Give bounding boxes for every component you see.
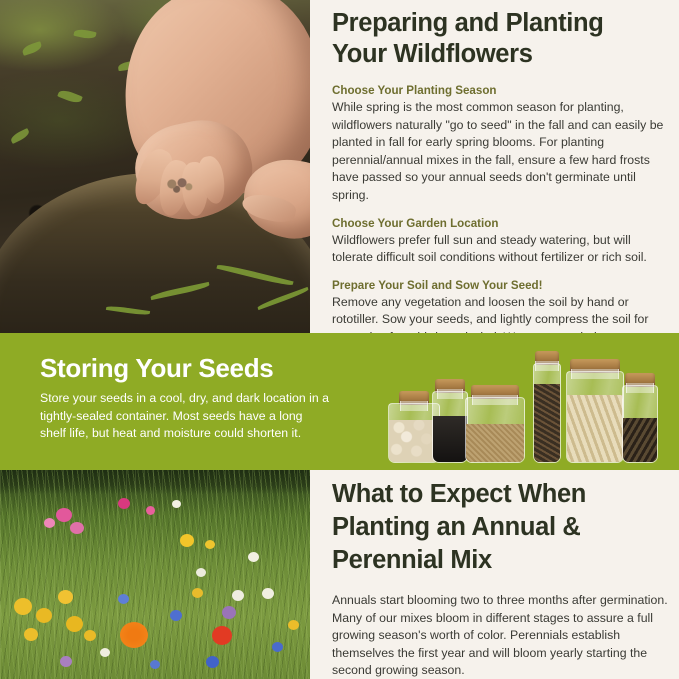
flower-blue-2 xyxy=(170,610,182,621)
page-title-line-2: Your Wildflowers xyxy=(332,40,533,68)
jar-pumpkin-seeds xyxy=(566,359,624,463)
expect-title-line-2: Planting an Annual & xyxy=(332,513,580,541)
flower-pink-4 xyxy=(146,506,155,515)
flower-pink-2 xyxy=(70,522,84,534)
storing-seeds-band: Storing Your Seeds Store your seeds in a… xyxy=(0,333,679,470)
flower-red-poppy xyxy=(212,626,232,645)
jar-contents xyxy=(534,384,560,462)
expect-title-line-3: Perennial Mix xyxy=(332,546,492,574)
flower-yellow-5 xyxy=(58,590,73,604)
spacer xyxy=(332,267,668,278)
jar-contents xyxy=(466,424,524,462)
jar-tan-grain xyxy=(465,385,525,463)
jar-black-seeds xyxy=(432,379,468,463)
flower-yellow-3 xyxy=(14,598,32,615)
flower-yellow-9 xyxy=(192,588,203,598)
page-title: Preparing and Planting Your Wildflowers xyxy=(332,8,668,70)
expect-title: What to Expect When Planting an Annual &… xyxy=(332,478,668,577)
flower-blue-1 xyxy=(118,594,129,604)
flower-white-2 xyxy=(248,552,259,562)
what-to-expect-section: What to Expect When Planting an Annual &… xyxy=(332,478,668,679)
jar-glass xyxy=(465,397,525,463)
jar-tall-dark-seeds xyxy=(533,351,561,463)
flower-white-1 xyxy=(172,500,181,508)
subheading-garden-location: Choose Your Garden Location xyxy=(332,216,668,232)
flower-pink-3 xyxy=(44,518,55,528)
preparing-planting-section: Preparing and Planting Your Wildflowers … xyxy=(332,8,668,347)
body-planting-season: While spring is the most common season f… xyxy=(332,99,668,205)
jar-glass xyxy=(566,371,624,463)
flower-blue-3 xyxy=(206,656,219,668)
flower-yellow-7 xyxy=(24,628,38,641)
flower-white-4 xyxy=(196,568,206,577)
subheading-planting-season: Choose Your Planting Season xyxy=(332,83,668,99)
spacer xyxy=(332,70,668,83)
infographic-page: Preparing and Planting Your Wildflowers … xyxy=(0,0,679,679)
flower-purple-1 xyxy=(222,606,236,619)
hands-sowing-seeds-photo xyxy=(0,0,310,333)
storing-seeds-body: Store your seeds in a cool, dry, and dar… xyxy=(40,390,330,443)
meadow-grass-texture xyxy=(0,470,310,679)
flower-yellow-8 xyxy=(84,630,96,641)
flower-pink-1 xyxy=(56,508,72,522)
body-garden-location: Wildflowers prefer full sun and steady w… xyxy=(332,232,668,267)
jar-glass xyxy=(622,385,658,463)
flower-white-6 xyxy=(100,648,110,657)
jar-contents xyxy=(433,416,467,462)
seeds-in-hand xyxy=(163,176,197,196)
flower-white-3 xyxy=(232,590,244,601)
storing-seeds-title: Storing Your Seeds xyxy=(40,353,273,384)
flower-magenta-1 xyxy=(118,498,130,509)
seed-jars-photo xyxy=(388,345,658,463)
page-title-line-1: Preparing and Planting xyxy=(332,9,603,37)
flower-yellow-6 xyxy=(66,616,83,632)
jar-mixed-dark-seeds xyxy=(622,373,658,463)
flower-purple-2 xyxy=(60,656,72,667)
flower-blue-4 xyxy=(150,660,160,669)
flower-yellow-10 xyxy=(288,620,299,630)
flower-yellow-4 xyxy=(36,608,52,623)
expect-title-line-1: What to Expect When xyxy=(332,480,586,508)
wildflower-meadow-photo xyxy=(0,470,310,679)
jar-contents xyxy=(567,395,623,462)
flower-white-5 xyxy=(262,588,274,599)
jar-glass xyxy=(533,363,561,463)
flower-blue-5 xyxy=(272,642,283,652)
flower-orange-poppy xyxy=(120,622,148,648)
flower-yellow-2 xyxy=(205,540,215,549)
subheading-prepare-soil: Prepare Your Soil and Sow Your Seed! xyxy=(332,278,668,294)
spacer xyxy=(332,205,668,216)
jar-contents xyxy=(623,418,657,462)
expect-body: Annuals start blooming two to three mont… xyxy=(332,592,668,679)
flower-yellow-1 xyxy=(180,534,194,547)
jar-glass xyxy=(432,391,468,463)
